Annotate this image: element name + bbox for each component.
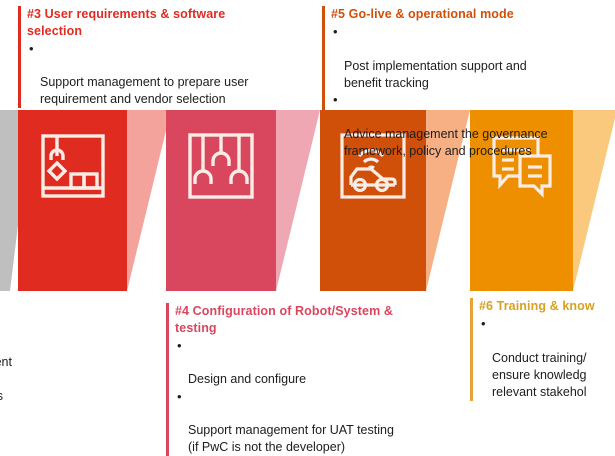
bullet-icon: •: [29, 40, 34, 57]
list-item: • Design and configure: [175, 337, 466, 388]
callout-stage-4: #4 Configuration of Robot/System & testi…: [166, 303, 466, 456]
list-item: • Advice management the governance frame…: [331, 92, 612, 160]
callout-stage-4-accent: [166, 303, 169, 456]
chevron-previous-body: [0, 110, 10, 291]
list-item-text: port management cost-benefits of tion ap…: [0, 355, 12, 403]
callout-stage-2-partial: analysis & port management cost-benefits…: [0, 303, 107, 405]
callout-stage-4-title: #4 Configuration of Robot/System & testi…: [175, 303, 466, 336]
list-item: • Post implementation support and benefi…: [331, 24, 612, 92]
callout-stage-2-title: analysis &: [0, 303, 107, 320]
callout-stage-6-title: #6 Training & know: [479, 298, 615, 315]
list-item: • Support management for UAT testing (if…: [175, 388, 466, 456]
callout-stage-5: #5 Go-live & operational mode • Post imp…: [322, 6, 612, 160]
hanging-claws-icon: [166, 130, 276, 202]
list-item-text: Design and configure: [188, 372, 306, 386]
callout-stage-4-list: • Design and configure • Support managem…: [175, 337, 466, 456]
callout-stage-5-accent: [322, 6, 325, 160]
list-item-text: Support management to prepare user requi…: [40, 75, 248, 106]
callout-stage-3-list: • Support management to prepare user req…: [27, 40, 296, 108]
list-item: • Support management to prepare user req…: [27, 40, 296, 108]
callout-stage-3-accent: [18, 6, 21, 108]
chevron-stage-3-tail: [127, 110, 171, 291]
bullet-icon: •: [177, 388, 182, 405]
bullet-icon: •: [481, 315, 486, 332]
callout-stage-6-list: • Conduct training/ ensure knowledg rele…: [479, 316, 615, 401]
list-item-text: Advice management the governance framewo…: [344, 127, 548, 158]
chevron-stage-3: [18, 110, 168, 291]
callout-stage-2-list: port management cost-benefits of tion ap…: [0, 337, 107, 405]
list-item-text: Conduct training/ ensure knowledg releva…: [492, 351, 587, 399]
robot-claw-factory-icon: [18, 130, 127, 202]
callout-stage-5-list: • Post implementation support and benefi…: [331, 24, 612, 160]
bullet-icon: •: [177, 337, 182, 354]
bullet-icon: •: [333, 23, 338, 40]
list-item-text: Post implementation support and benefit …: [344, 59, 527, 90]
chevron-stage-4-tail: [276, 110, 320, 291]
callout-stage-3: #3 User requirements & software selectio…: [18, 6, 296, 108]
list-item: port management cost-benefits of tion ap…: [0, 337, 107, 405]
callout-stage-5-title: #5 Go-live & operational mode: [331, 6, 612, 23]
chevron-stage-4: [166, 110, 318, 291]
list-item-text: Support management for UAT testing (if P…: [188, 423, 394, 454]
list-item: • Conduct training/ ensure knowledg rele…: [479, 316, 615, 401]
callout-stage-3-title: #3 User requirements & software selectio…: [27, 6, 296, 39]
callout-stage-6-accent: [470, 298, 473, 401]
bullet-icon: •: [333, 91, 338, 108]
callout-stage-6-partial: #6 Training & know • Conduct training/ e…: [470, 298, 615, 401]
